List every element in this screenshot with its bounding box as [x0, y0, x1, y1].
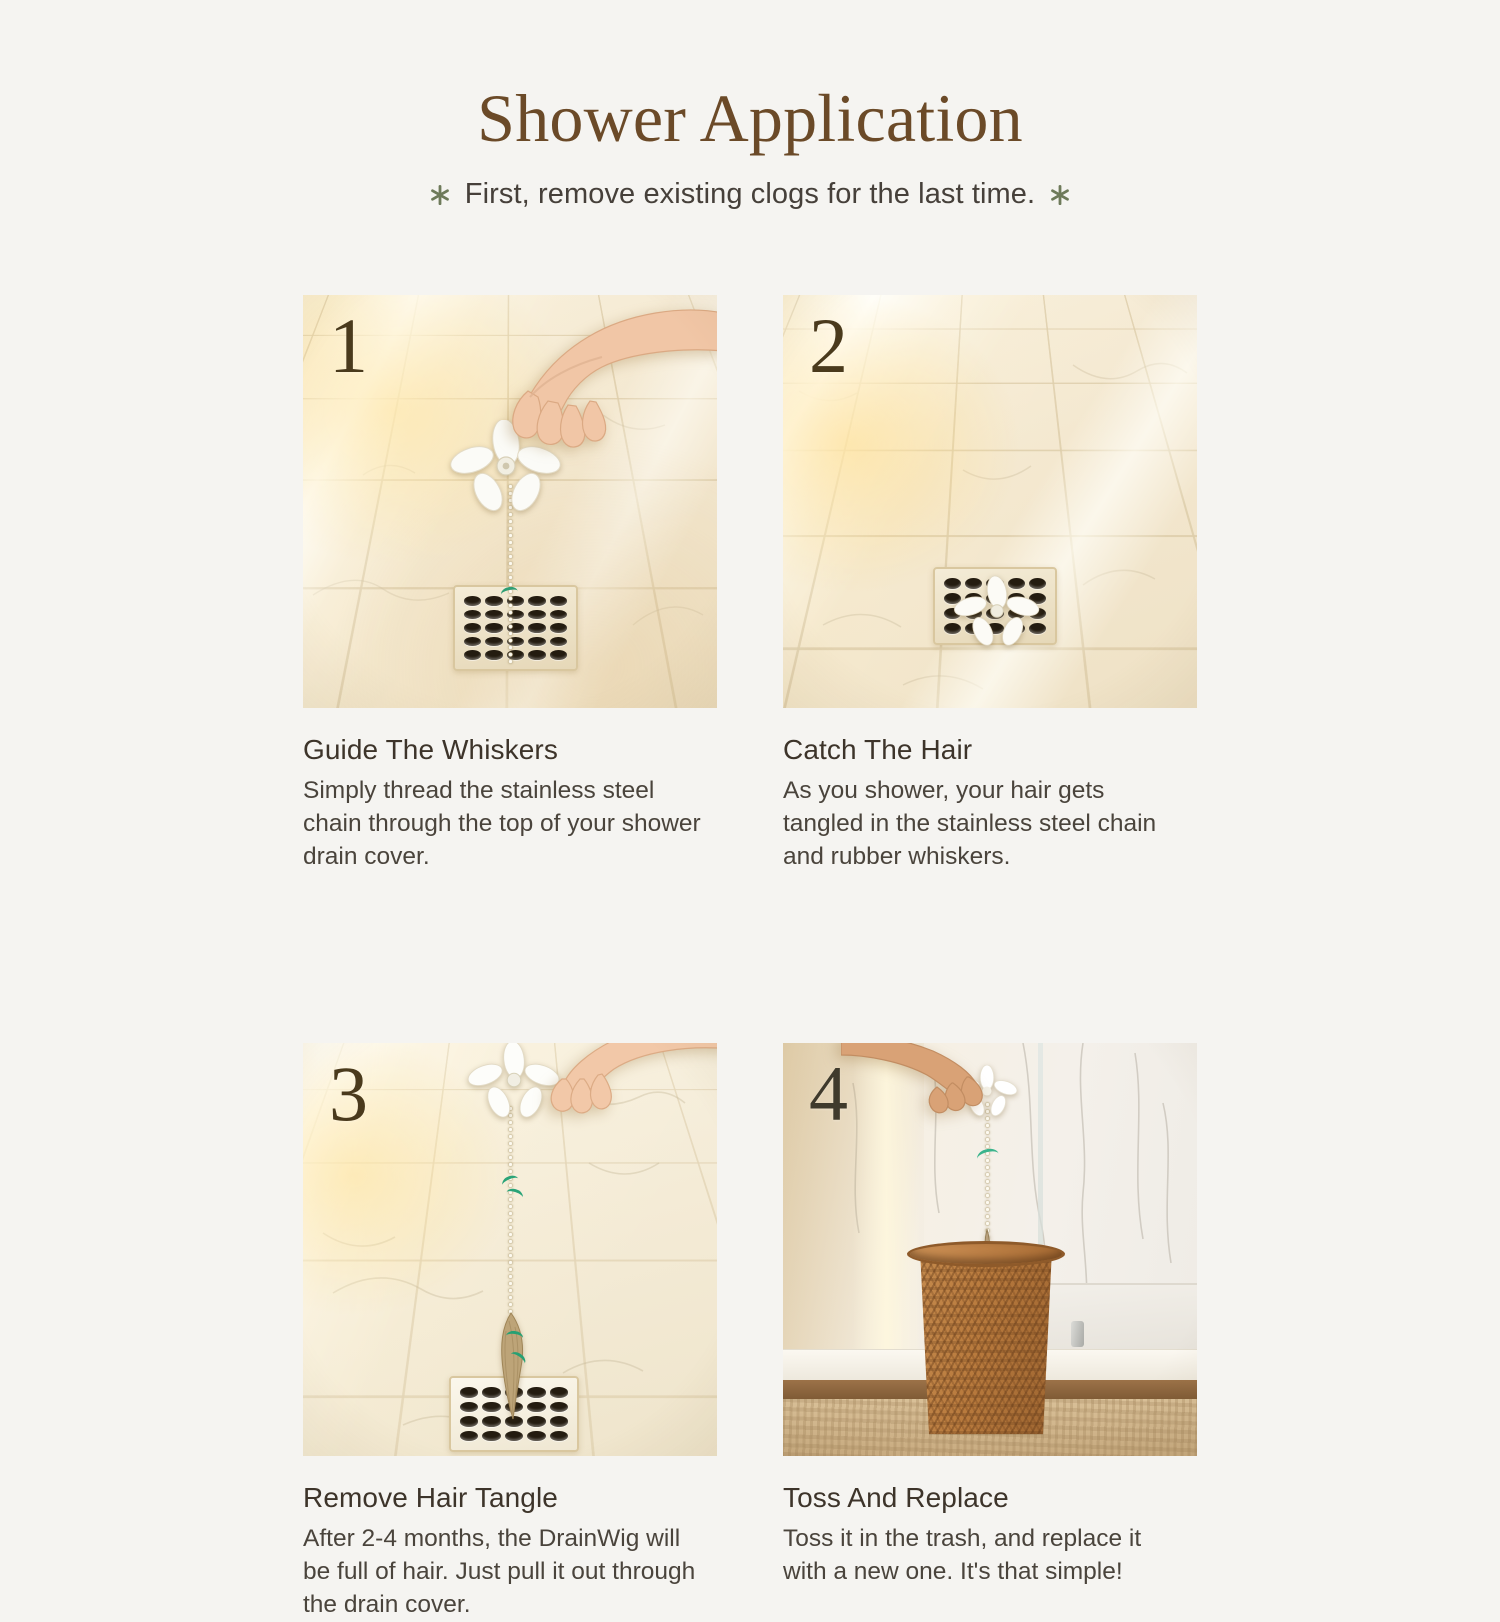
chain — [508, 1105, 513, 1320]
hand — [841, 1043, 1011, 1119]
hair-clump — [485, 1311, 539, 1421]
step-photo-4: 4 — [783, 1043, 1197, 1456]
star-icon — [429, 184, 451, 206]
step-card-3: 3 Remove Hair Tangle After 2-4 months, t… — [303, 1043, 717, 1621]
wastebasket — [911, 1249, 1061, 1434]
step-number: 4 — [809, 1051, 848, 1137]
step-title: Catch The Hair — [783, 734, 1197, 766]
drain-grate — [453, 585, 578, 671]
step-caption-1: Guide The Whiskers Simply thread the sta… — [303, 708, 717, 873]
star-icon — [1049, 184, 1071, 206]
subtitle-text: First, remove existing clogs for the las… — [465, 178, 1035, 211]
step-card-4: 4 Toss And Replace Toss it in the trash,… — [783, 1043, 1197, 1621]
shower-application-infographic: Shower Application First, remove existin… — [0, 0, 1500, 1500]
page-title: Shower Application — [0, 84, 1500, 152]
hand — [508, 1043, 717, 1127]
step-photo-1: 1 — [303, 295, 717, 708]
step-title: Remove Hair Tangle — [303, 1482, 717, 1514]
step-description: Toss it in the trash, and replace it wit… — [783, 1523, 1183, 1589]
faucet — [1071, 1321, 1084, 1347]
step-number: 2 — [809, 303, 848, 389]
step-caption-3: Remove Hair Tangle After 2-4 months, the… — [303, 1456, 717, 1621]
step-caption-4: Toss And Replace Toss it in the trash, a… — [783, 1456, 1197, 1589]
step-number: 3 — [329, 1051, 368, 1137]
step-title: Guide The Whiskers — [303, 734, 717, 766]
drainwig-flower — [951, 575, 1043, 647]
step-number: 1 — [329, 303, 368, 389]
steps-grid: 1 Guide The Whiskers Simply thread the s… — [303, 295, 1197, 1622]
step-card-1: 1 Guide The Whiskers Simply thread the s… — [303, 295, 717, 873]
step-title: Toss And Replace — [783, 1482, 1197, 1514]
step-description: As you shower, your hair gets tangled in… — [783, 775, 1183, 873]
step-card-2: 2 Catch The Hair As you shower, your hai… — [783, 295, 1197, 873]
step-caption-2: Catch The Hair As you shower, your hair … — [783, 708, 1197, 873]
step-photo-3: 3 — [303, 1043, 717, 1456]
step-photo-2: 2 — [783, 295, 1197, 708]
hand — [468, 305, 717, 455]
step-description: Simply thread the stainless steel chain … — [303, 775, 703, 873]
header: Shower Application First, remove existin… — [0, 0, 1500, 211]
step-description: After 2-4 months, the DrainWig will be f… — [303, 1523, 703, 1621]
subtitle-row: First, remove existing clogs for the las… — [0, 178, 1500, 211]
